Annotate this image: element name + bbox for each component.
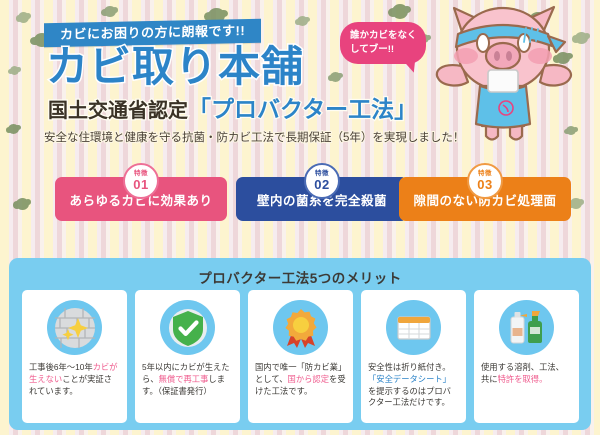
- feature-box-03[interactable]: 特徴 03 隙間のない防カビ処理面: [399, 177, 571, 221]
- merit-text-highlight: 「安全データシート」: [368, 374, 451, 384]
- merit-card[interactable]: 工事後6年～10年カビが生えないことが実証されています。: [22, 290, 127, 423]
- feature-badge-03: 特徴 03: [467, 163, 503, 199]
- feature-badge-01: 特徴 01: [123, 163, 159, 199]
- merits-panel: プロバクター工法5つのメリット 工事後6年～10年カビが生えないことが実証されて…: [9, 258, 591, 430]
- hero-subtitle-prefix: 国土交通省認定: [48, 100, 188, 122]
- mold-spot-icon: [8, 124, 19, 134]
- feature-badge-02: 特徴 02: [304, 163, 340, 199]
- mold-spot-icon: [18, 12, 29, 23]
- feature-badge-number: 03: [477, 178, 492, 191]
- page-title: カビ取り本舗: [46, 46, 304, 88]
- merit-text-highlight: 無償で再工事: [159, 374, 209, 384]
- merit-card-list: 工事後6年～10年カビが生えないことが実証されています。 5年以内にカビが生えた…: [22, 290, 579, 423]
- feature-box-01[interactable]: 特徴 01 あらゆるカビに効果あり: [55, 177, 227, 221]
- green-shield-check-icon: [160, 300, 215, 355]
- merit-card[interactable]: 5年以内にカビが生えたら、無償で再工事します。（保証書発行）: [135, 290, 240, 423]
- mold-spot-icon: [297, 16, 308, 26]
- mold-spot-icon: [10, 66, 19, 75]
- mold-spot-icon: [104, 6, 116, 17]
- merit-text-part: 工事後6年～10年: [29, 362, 93, 372]
- hero-subtitle-method: 「プロバクター工法」: [188, 96, 417, 122]
- feature-badge-number: 01: [133, 178, 148, 191]
- gold-award-ribbon-icon: [273, 300, 328, 355]
- feature-boxes: 特徴 01 あらゆるカビに効果あり 特徴 02 壁内の菌糸を完全殺菌 特徴 03…: [0, 170, 600, 232]
- mold-spot-icon: [330, 72, 341, 82]
- hero-ribbon-banner: カビにお困りの方に朗報です!!: [44, 21, 261, 45]
- merit-text-part: 安全性は折り紙付き。: [368, 362, 451, 372]
- merit-card[interactable]: 使用する溶剤、工法、共に特許を取得。: [474, 290, 579, 423]
- merit-card-text: 5年以内にカビが生えたら、無償で再工事します。（保証書発行）: [142, 362, 233, 397]
- hero-lead-text: 安全な住環境と健康を守る抗菌・防カビ工法で長期保証（5年）を実現しました！: [44, 133, 464, 145]
- merit-text-part: を提示するのはプロバクター工法だけです。: [368, 386, 451, 408]
- spray-bottle-cleaner-icon: [499, 300, 554, 355]
- merit-card-text: 使用する溶剤、工法、共に特許を取得。: [481, 362, 572, 386]
- mold-spot-icon: [392, 4, 408, 19]
- feature-badge-number: 02: [314, 178, 329, 191]
- brick-wall-sparkle-icon: [47, 300, 102, 355]
- merit-card-text: 国内で唯一「防カビ業」として、国から認定を受けた工法です。: [255, 362, 346, 397]
- merit-text-highlight: 特許を取得。: [498, 374, 548, 384]
- mascot-speech-bubble: 誰かカビをなくしてブー!!: [340, 22, 426, 64]
- merit-card[interactable]: 国内で唯一「防カビ業」として、国から認定を受けた工法です。: [248, 290, 353, 423]
- document-table-icon: [386, 300, 441, 355]
- pig-mascot-icon: [432, 0, 582, 158]
- merit-card[interactable]: 安全性は折り紙付き。「安全データシート」を提示するのはプロバクター工法だけです。: [361, 290, 466, 423]
- merit-card-text: 安全性は折り紙付き。「安全データシート」を提示するのはプロバクター工法だけです。: [368, 362, 459, 409]
- pig-mascot: [432, 0, 582, 158]
- merit-text-highlight: 国から認定: [288, 374, 330, 384]
- feature-box-02[interactable]: 特徴 02 壁内の菌糸を完全殺菌: [236, 177, 408, 221]
- hero-subtitle: 国土交通省認定「プロバクター工法」: [48, 98, 417, 121]
- merit-card-text: 工事後6年～10年カビが生えないことが実証されています。: [29, 362, 120, 397]
- merits-title: プロバクター工法5つのメリット: [9, 258, 591, 287]
